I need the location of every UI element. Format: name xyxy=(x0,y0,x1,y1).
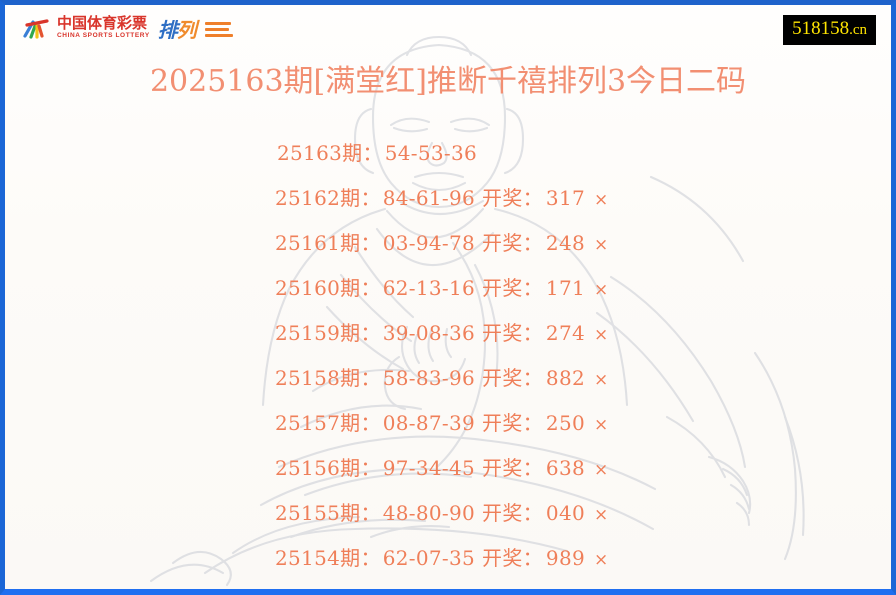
row-result-mark: × xyxy=(594,190,609,210)
row-award-number: 250 xyxy=(546,411,585,435)
row-award-label: 开奖： xyxy=(482,456,543,480)
row-award-label: 开奖： xyxy=(482,276,543,300)
row-codes: 58-83-96 xyxy=(383,366,475,390)
row-award-label: 开奖： xyxy=(482,546,543,570)
row-award-label: 开奖： xyxy=(482,186,543,210)
logo-series-char-2: 列 xyxy=(177,18,196,42)
sports-lottery-logo-icon xyxy=(21,15,51,41)
row-result-mark: × xyxy=(594,325,609,345)
row-result-mark: × xyxy=(594,415,609,435)
row-colon: ： xyxy=(360,546,380,570)
list-item: 25154期：62-07-35开奖：989× xyxy=(5,536,891,581)
row-award-number: 989 xyxy=(546,546,585,570)
list-item: 25155期：48-80-90开奖：040× xyxy=(5,491,891,536)
prediction-list: 25163期：54-53-36 25162期：84-61-96开奖：317× 2… xyxy=(5,131,891,581)
list-item: 25159期：39-08-36开奖：274× xyxy=(5,311,891,356)
row-period: 25157期 xyxy=(275,411,360,435)
row-codes: 62-13-16 xyxy=(383,276,475,300)
row-award-number: 040 xyxy=(546,501,585,525)
row-period: 25161期 xyxy=(275,231,360,255)
row-period: 25163期 xyxy=(277,141,362,165)
row-result-mark: × xyxy=(594,505,609,525)
row-award-label: 开奖： xyxy=(482,321,543,345)
row-period: 25154期 xyxy=(275,546,360,570)
logo-series-name: 排列 xyxy=(158,14,196,43)
row-award-label: 开奖： xyxy=(482,411,543,435)
row-period: 25155期 xyxy=(275,501,360,525)
lottery-logo: 中国体育彩票 CHINA SPORTS LOTTERY 排列 xyxy=(21,11,233,45)
row-period: 25160期 xyxy=(275,276,360,300)
row-period: 25156期 xyxy=(275,456,360,480)
row-period: 25162期 xyxy=(275,186,360,210)
row-award-label: 开奖： xyxy=(482,501,543,525)
logo-wordmark: 中国体育彩票 CHINA SPORTS LOTTERY xyxy=(57,16,150,40)
row-colon: ： xyxy=(362,141,382,165)
row-result-mark: × xyxy=(594,280,609,300)
list-item: 25163期：54-53-36 xyxy=(5,131,891,176)
row-codes: 39-08-36 xyxy=(383,321,475,345)
site-watermark-badge: 518158.cn xyxy=(783,15,876,45)
row-result-mark: × xyxy=(594,460,609,480)
row-colon: ： xyxy=(360,411,380,435)
row-award-number: 882 xyxy=(546,366,585,390)
row-codes: 54-53-36 xyxy=(385,141,477,165)
logo-three-bars-icon xyxy=(205,22,233,37)
row-codes: 62-07-35 xyxy=(383,546,475,570)
row-colon: ： xyxy=(360,321,380,345)
list-item: 25157期：08-87-39开奖：250× xyxy=(5,401,891,446)
watermark-site-name: 518158 xyxy=(792,18,849,39)
watermark-domain-suffix: .cn xyxy=(849,22,867,38)
row-colon: ： xyxy=(360,186,380,210)
row-codes: 97-34-45 xyxy=(383,456,475,480)
row-codes: 84-61-96 xyxy=(383,186,475,210)
logo-series-char-1: 排 xyxy=(158,18,177,42)
logo-brand-en: CHINA SPORTS LOTTERY xyxy=(57,33,150,40)
list-item: 25160期：62-13-16开奖：171× xyxy=(5,266,891,311)
row-colon: ： xyxy=(360,276,380,300)
row-result-mark: × xyxy=(594,550,609,570)
row-colon: ： xyxy=(360,366,380,390)
page-title: 2025163期[满堂红]推断千禧排列3今日二码 xyxy=(5,62,891,102)
list-item: 25158期：58-83-96开奖：882× xyxy=(5,356,891,401)
row-award-number: 638 xyxy=(546,456,585,480)
row-result-mark: × xyxy=(594,235,609,255)
row-award-number: 171 xyxy=(546,276,585,300)
row-award-label: 开奖： xyxy=(482,231,543,255)
page-frame: 中国体育彩票 CHINA SPORTS LOTTERY 排列 518158.cn… xyxy=(0,0,896,595)
row-codes: 48-80-90 xyxy=(383,501,475,525)
row-colon: ： xyxy=(360,456,380,480)
list-item: 25162期：84-61-96开奖：317× xyxy=(5,176,891,221)
row-codes: 08-87-39 xyxy=(383,411,475,435)
list-item: 25161期：03-94-78开奖：248× xyxy=(5,221,891,266)
row-period: 25159期 xyxy=(275,321,360,345)
row-award-label: 开奖： xyxy=(482,366,543,390)
row-result-mark: × xyxy=(594,370,609,390)
row-codes: 03-94-78 xyxy=(383,231,475,255)
page-header: 中国体育彩票 CHINA SPORTS LOTTERY 排列 518158.cn xyxy=(5,5,891,55)
row-award-number: 274 xyxy=(546,321,585,345)
row-colon: ： xyxy=(360,231,380,255)
logo-brand-cn: 中国体育彩票 xyxy=(57,16,150,31)
row-period: 25158期 xyxy=(275,366,360,390)
row-colon: ： xyxy=(360,501,380,525)
list-item: 25156期：97-34-45开奖：638× xyxy=(5,446,891,491)
row-award-number: 248 xyxy=(546,231,585,255)
row-award-number: 317 xyxy=(546,186,585,210)
